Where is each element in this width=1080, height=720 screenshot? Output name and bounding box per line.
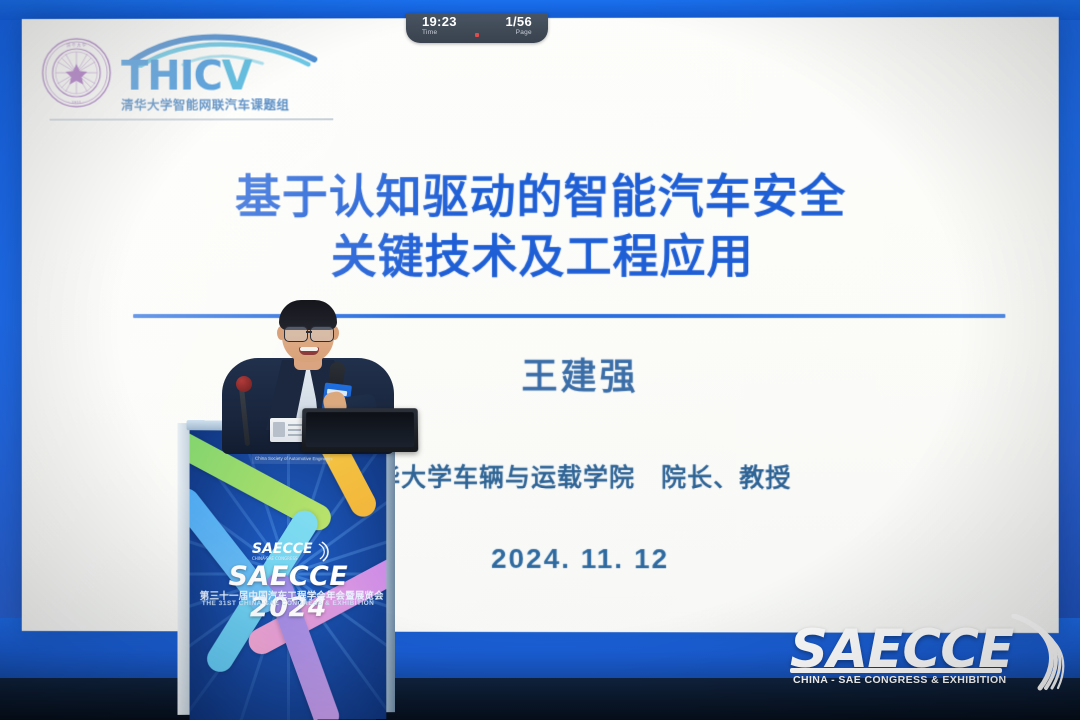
conference-stage-photo: 清 华 大 学 · 1911 · THICV 清华大学智能网联汽车课题组 基于认…: [0, 0, 1080, 720]
laptop-screen: [306, 412, 414, 447]
speaker-teeth: [300, 347, 318, 351]
slide-header-logos: 清 华 大 学 · 1911 · THICV 清华大学智能网联汽车课题组: [40, 26, 339, 118]
tsinghua-seal-icon: 清 华 大 学 · 1911 ·: [40, 36, 114, 110]
podium-front-panel: 中国汽车工程学会 China Society of Automotive Eng…: [190, 427, 387, 720]
affiliation-text: 华大学车辆与运载学院 院长、教授: [375, 464, 791, 492]
time-page-overlay: 19:23 1/56 Time Page: [406, 13, 548, 43]
thicv-subtitle: 清华大学智能网联汽车课题组: [121, 94, 322, 113]
saecce-underbar: [790, 668, 1002, 673]
presentation-date: 2024. 11. 12: [340, 543, 820, 576]
slide-title-line2: 关键技术及工程应用: [81, 226, 1001, 286]
backdrop-saecce-logo: SAECCE CHINA - SAE CONGRESS & EXHIBITION: [790, 618, 1070, 692]
slide-title: 基于认知驱动的智能汽车安全 关键技术及工程应用: [81, 166, 1001, 287]
speaker-glasses-bridge: [306, 331, 312, 333]
slide-title-line1: 基于认知驱动的智能汽车安全: [81, 166, 1001, 227]
speaker-name: 王建强: [340, 348, 820, 400]
speaker-glasses-right-lens: [310, 326, 334, 342]
overlay-time-value: 19:23: [422, 14, 457, 29]
overlay-page-label: Page: [516, 29, 532, 37]
overlay-status-dot-icon: [475, 33, 479, 37]
speaker-podium: 中国汽车工程学会 China Society of Automotive Eng…: [190, 427, 387, 720]
podium-microphone-head-icon: [236, 376, 252, 392]
thicv-wordmark: THICV: [121, 57, 320, 95]
svg-text:· 1911 ·: · 1911 ·: [69, 100, 84, 105]
podium-right-edge: [385, 426, 395, 712]
speaker-figure: [214, 300, 404, 450]
overlay-labels-row: Time Page: [406, 29, 548, 37]
speaker-glasses-left-lens: [284, 326, 308, 342]
thicv-logo: THICV 清华大学智能网联汽车课题组: [119, 31, 323, 113]
overlay-values-row: 19:23 1/56: [406, 14, 548, 29]
header-divider: [50, 118, 334, 120]
saecce-arc-swoosh-icon: [1000, 614, 1078, 692]
svg-text:清 华 大 学: 清 华 大 学: [67, 42, 87, 48]
presenter-laptop: [302, 408, 419, 452]
overlay-time-label: Time: [422, 29, 437, 37]
podium-subtitle-en: THE 31ST CHINA-SAE CONGRESS & EXHIBITION: [200, 600, 377, 607]
overlay-page-value: 1/56: [505, 14, 532, 29]
svg-text:SAECCE: SAECCE: [252, 541, 313, 557]
